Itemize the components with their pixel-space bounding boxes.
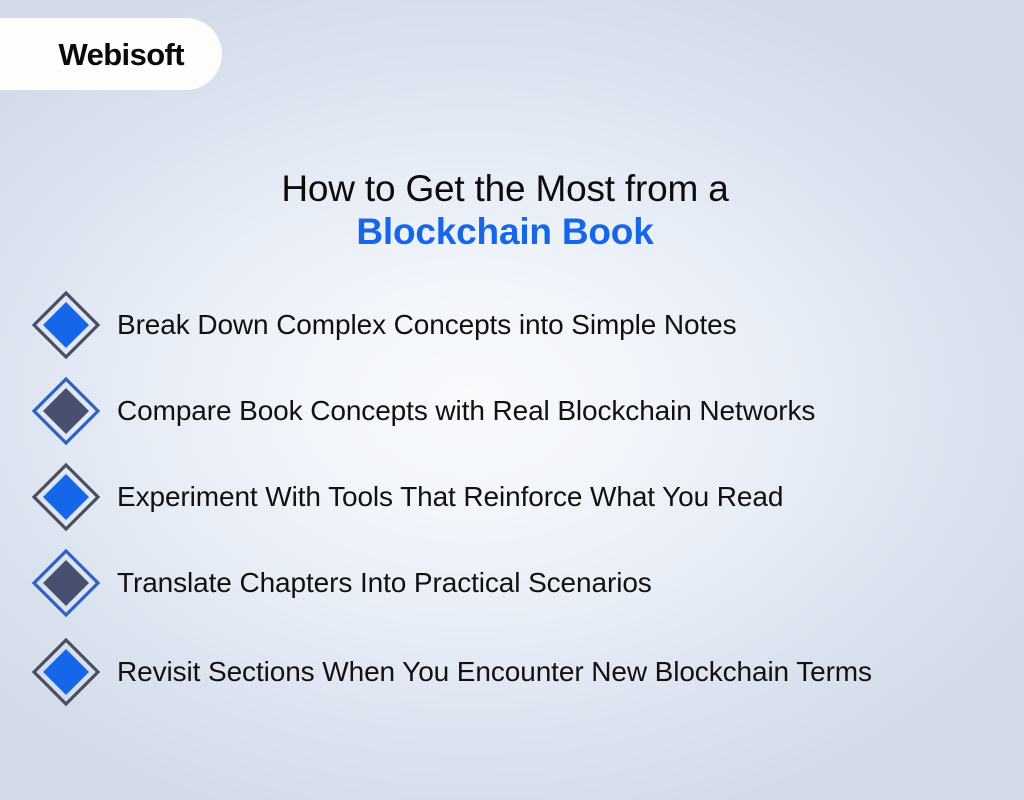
brand-logo-pill: Webisoft [0, 18, 222, 90]
list-item-label: Translate Chapters Into Practical Scenar… [117, 566, 652, 600]
slide-canvas: Webisoft How to Get the Most from a Bloc… [0, 0, 1024, 800]
list-item-label: Break Down Complex Concepts into Simple … [117, 308, 737, 342]
diamond-icon [30, 547, 102, 619]
diamond-icon [30, 289, 102, 361]
list-item: Break Down Complex Concepts into Simple … [0, 282, 1024, 368]
diamond-icon [30, 461, 102, 533]
page-title-line-1: How to Get the Most from a [0, 168, 1010, 209]
diamond-icon [30, 375, 102, 447]
list-item-label: Experiment With Tools That Reinforce Wha… [117, 480, 783, 514]
list-item: Compare Book Concepts with Real Blockcha… [0, 368, 1024, 454]
list-item-label: Compare Book Concepts with Real Blockcha… [117, 394, 815, 428]
brand-logo-text: Webisoft [58, 39, 184, 70]
diamond-icon [30, 636, 102, 708]
page-title-line-2: Blockchain Book [0, 209, 1010, 255]
list-item: Revisit Sections When You Encounter New … [0, 626, 1024, 718]
list-item-label: Revisit Sections When You Encounter New … [117, 655, 872, 689]
page-title: How to Get the Most from a Blockchain Bo… [0, 168, 1010, 256]
tips-list: Break Down Complex Concepts into Simple … [0, 282, 1024, 718]
list-item: Experiment With Tools That Reinforce Wha… [0, 454, 1024, 540]
list-item: Translate Chapters Into Practical Scenar… [0, 540, 1024, 626]
